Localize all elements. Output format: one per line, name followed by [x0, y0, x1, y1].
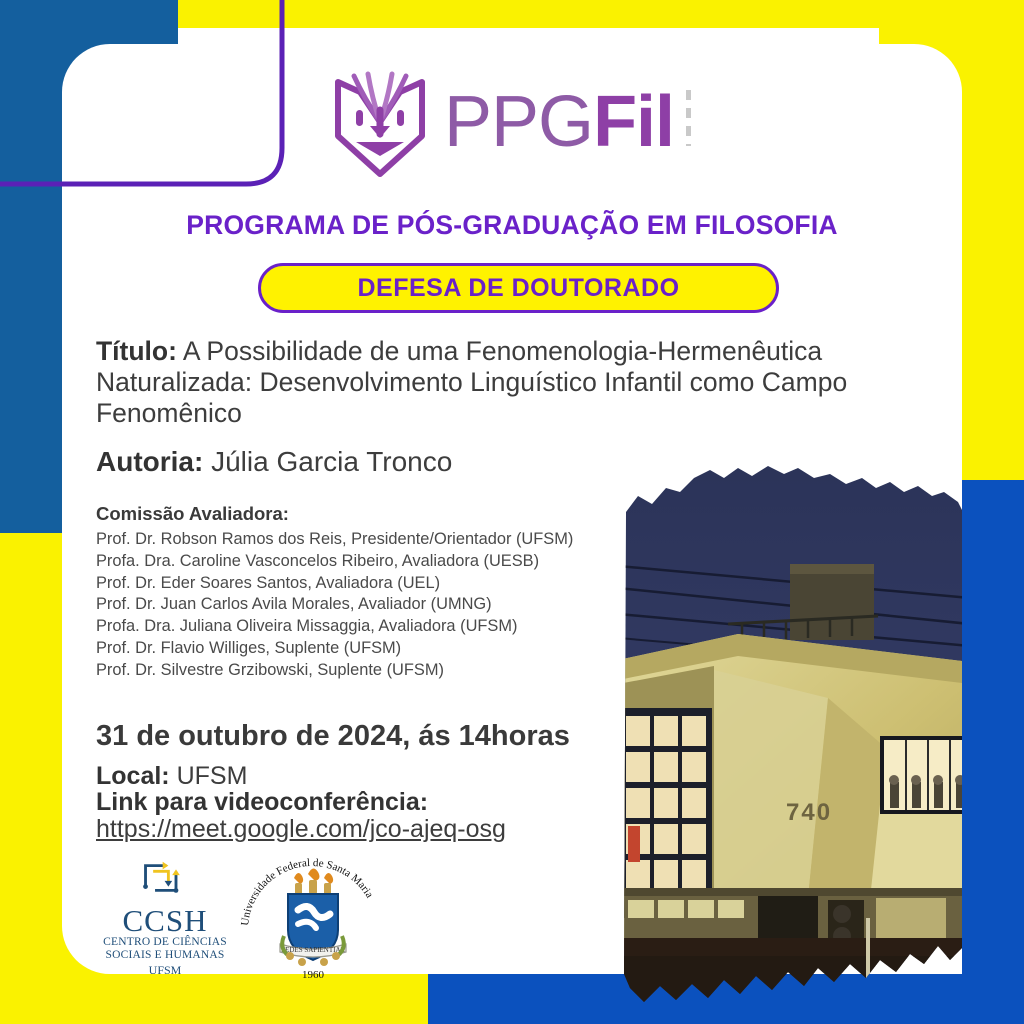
committee-list: Prof. Dr. Robson Ramos dos Reis, Preside…: [96, 529, 626, 682]
ccsh-acronym: CCSH: [100, 905, 230, 936]
ccsh-subtitle-line1: CENTRO DE CIÊNCIAS: [100, 936, 230, 949]
list-item: Profa. Dra. Juliana Oliveira Missaggia, …: [96, 616, 626, 638]
ufsm-seal-icon: Universidade Federal de Santa Maria SEDE…: [232, 852, 392, 982]
list-item: Prof. Dr. Eder Soares Santos, Avaliadora…: [96, 573, 626, 595]
ppgfil-wordmark: PPGFil: [444, 86, 691, 158]
committee-heading: Comissão Avaliadora:: [96, 503, 626, 525]
wordmark-ppg: PPG: [444, 86, 593, 158]
ccsh-mark-icon: [136, 858, 193, 898]
author-label: Autoria:: [96, 446, 203, 477]
list-item: Prof. Dr. Flavio Williges, Suplente (UFS…: [96, 638, 626, 660]
defense-type-badge: DEFESA DE DOUTORADO: [258, 263, 779, 313]
author-value: Júlia Garcia Tronco: [211, 446, 452, 477]
building-number-label: 740: [786, 799, 832, 826]
program-title: PROGRAMA DE PÓS-GRADUAÇÃO EM FILOSOFIA: [0, 210, 1024, 241]
author-block: Autoria: Júlia Garcia Tronco: [96, 446, 452, 478]
wordmark-divider-icon: [686, 90, 691, 146]
building-photo: 740: [618, 448, 970, 1024]
ccsh-institution: UFSM: [100, 963, 230, 978]
list-item: Prof. Dr. Robson Ramos dos Reis, Preside…: [96, 529, 626, 551]
building-photo-illustration: 740: [618, 448, 970, 1024]
thesis-title-block: Título: A Possibilidade de uma Fenomenol…: [96, 336, 896, 429]
thesis-title-label: Título:: [96, 336, 177, 366]
ufsm-seal-year: 1960: [302, 969, 325, 981]
poster-canvas: PPGFil PROGRAMA DE PÓS-GRADUAÇÃO EM FILO…: [0, 0, 1024, 1024]
event-location-value: UFSM: [177, 762, 248, 790]
committee-block: Comissão Avaliadora: Prof. Dr. Robson Ra…: [96, 503, 626, 682]
list-item: Prof. Dr. Juan Carlos Avila Morales, Ava…: [96, 594, 626, 616]
ccsh-logo: CCSH CENTRO DE CIÊNCIAS SOCIAIS E HUMANA…: [100, 858, 230, 978]
event-date: 31 de outubro de 2024, ás 14horas: [96, 720, 570, 753]
event-location: Local: UFSM: [96, 762, 247, 791]
defense-type-badge-label: DEFESA DE DOUTORADO: [357, 274, 679, 303]
event-location-label: Local:: [96, 762, 170, 790]
videoconference-label: Link para videoconferência:: [96, 788, 428, 817]
list-item: Prof. Dr. Silvestre Grzibowski, Suplente…: [96, 660, 626, 682]
owl-book-icon: [330, 64, 430, 180]
ppgfil-logo: PPGFil: [330, 64, 691, 180]
ccsh-subtitle-line2: SOCIAIS E HUMANAS: [100, 949, 230, 962]
wordmark-fil: Fil: [593, 86, 674, 158]
thesis-title-value: A Possibilidade de uma Fenomenologia-Her…: [96, 336, 847, 428]
list-item: Profa. Dra. Caroline Vasconcelos Ribeiro…: [96, 551, 626, 573]
videoconference-link[interactable]: https://meet.google.com/jco-ajeq-osg: [96, 815, 506, 844]
